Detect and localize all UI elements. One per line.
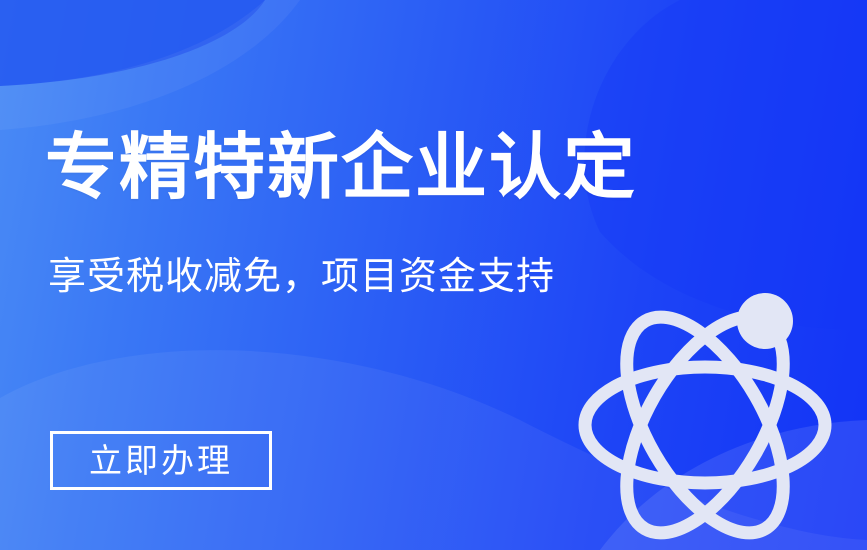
banner-subtitle: 享受税收减免，项目资金支持 — [48, 256, 555, 300]
atom-illustration — [575, 285, 835, 540]
page-title: 专精特新企业认定 — [45, 132, 637, 204]
atom-orbit-icon — [585, 367, 825, 483]
promo-banner: 专精特新企业认定 享受税收减免，项目资金支持 立即办理 — [0, 0, 867, 550]
atom-icon — [575, 285, 835, 540]
banner-content: 专精特新企业认定 享受税收减免，项目资金支持 立即办理 — [0, 0, 867, 550]
apply-now-button[interactable]: 立即办理 — [50, 431, 272, 490]
atom-electron-icon — [737, 293, 793, 349]
apply-now-button-label: 立即办理 — [89, 444, 233, 477]
